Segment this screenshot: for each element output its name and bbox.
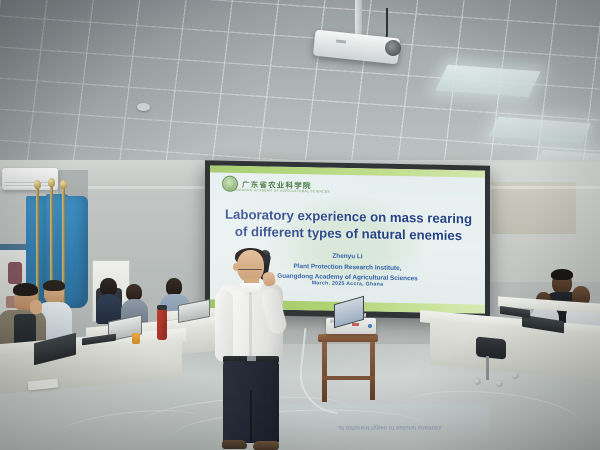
- side-table-leg: [370, 342, 375, 400]
- attendee-hair: [551, 269, 573, 280]
- chair-caster: [496, 380, 503, 387]
- attendee-hand: [30, 300, 42, 314]
- cabinet-poster: [8, 262, 22, 284]
- trouser-seam: [250, 390, 252, 443]
- presenter-shirt-placket: [249, 292, 252, 356]
- thermos-flask: [157, 309, 167, 340]
- drink-cup: [132, 333, 140, 344]
- chair-caster: [474, 378, 481, 385]
- office-chair: [476, 336, 506, 359]
- presenter-ear: [233, 263, 239, 271]
- attendee-hair: [43, 280, 65, 291]
- presenter-shoe: [253, 441, 279, 450]
- conference-room-photo: 广东省农业科学院 GUANGDONG ACADEMY OF AGRICULTUR…: [0, 0, 600, 450]
- wall-panel: [492, 182, 576, 234]
- eyeglasses-icon: [238, 263, 262, 270]
- smoke-detector-icon: [137, 103, 150, 111]
- flag-finial: [60, 180, 67, 189]
- av-box-indicator-led: [368, 324, 372, 328]
- presenter-left-arm: [215, 290, 233, 362]
- thermos-cap: [157, 305, 167, 310]
- av-box-label: [352, 323, 359, 326]
- presenter-shoe: [222, 440, 247, 449]
- chair-caster: [512, 372, 519, 379]
- slide-title-line-2: of different types of natural enemies: [224, 223, 473, 245]
- flag-finial: [34, 180, 41, 189]
- presenter: [215, 250, 289, 450]
- slide-title: Laboratory experience on mass rearing of…: [224, 206, 473, 246]
- chair-post: [486, 356, 489, 380]
- attendee-hair: [13, 283, 38, 296]
- flag-finial: [48, 178, 55, 187]
